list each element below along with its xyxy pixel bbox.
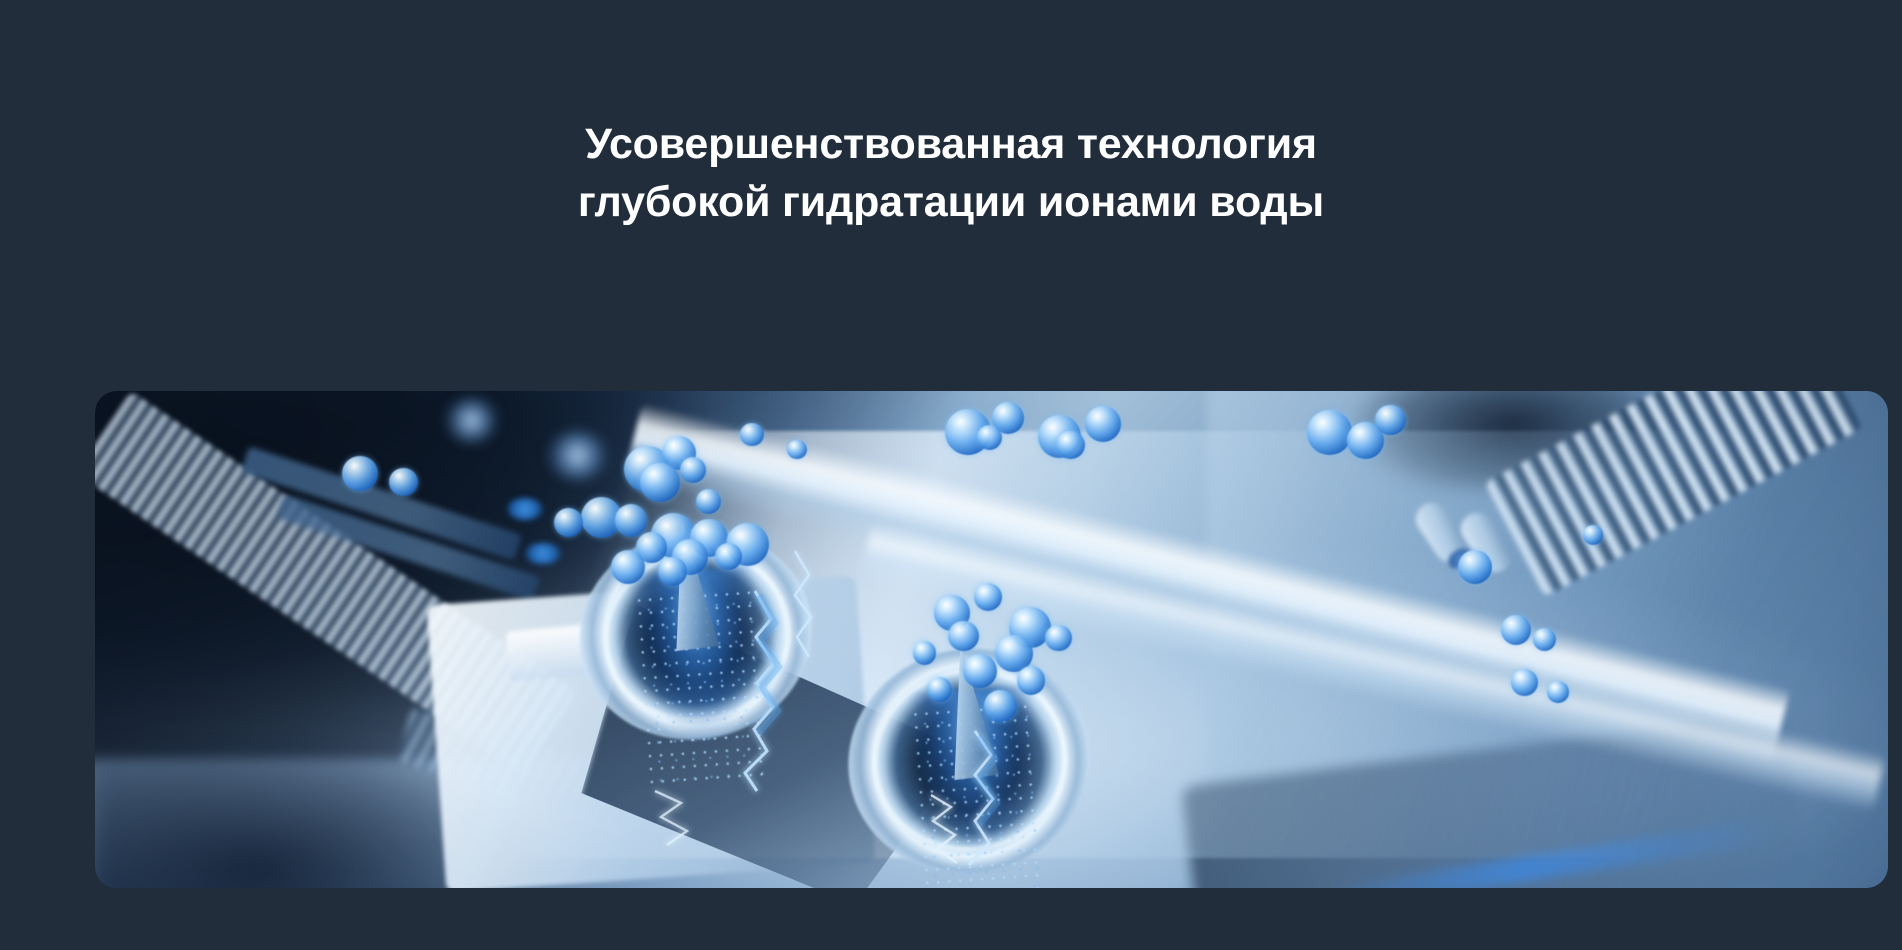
water-droplet [342,456,378,492]
water-droplet [1547,681,1569,702]
hero-image [95,391,1888,888]
water-droplet [696,489,721,514]
water-droplet [1583,525,1603,545]
water-droplets [95,391,1888,888]
water-droplet [927,677,952,702]
water-droplet [913,641,936,664]
water-droplet [1533,628,1556,651]
water-droplet [1307,410,1352,455]
water-droplet [787,440,807,460]
water-droplet [611,550,645,584]
water-droplet [680,457,707,484]
water-droplet [640,463,679,502]
water-droplet [1085,406,1121,442]
water-droplet [1056,431,1085,460]
water-droplet [715,543,742,570]
water-droplet [1375,405,1405,435]
promo-page: Усовершенствованная технология глубокой … [0,0,1902,950]
page-title-line-2: глубокой гидратации ионами воды [0,173,1902,231]
water-droplet [974,583,1003,612]
water-droplet [1511,669,1538,696]
water-droplet [615,504,647,536]
hero-image-canvas [95,391,1888,888]
water-droplet [658,557,687,586]
water-droplet [1501,615,1531,645]
page-title: Усовершенствованная технология глубокой … [0,115,1902,231]
water-droplet [963,654,997,688]
water-droplet [389,468,418,497]
page-title-line-1: Усовершенствованная технология [0,115,1902,173]
water-droplet [1458,550,1492,584]
water-droplet [554,508,583,537]
water-droplet [1017,666,1046,695]
water-droplet [984,690,1016,722]
water-droplet [977,425,1002,450]
water-droplet [1045,625,1072,652]
water-droplet [948,621,978,651]
water-droplet [740,423,763,446]
